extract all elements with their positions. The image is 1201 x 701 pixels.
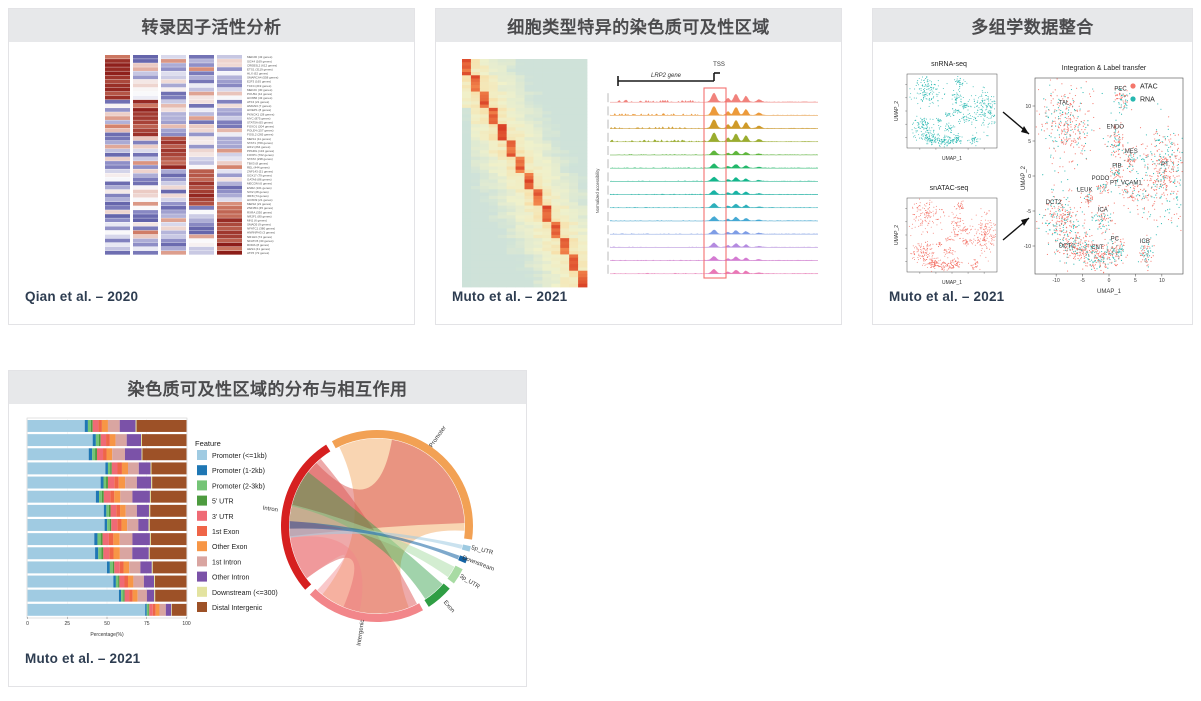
heatmap-cell [578,241,587,245]
heatmap-cell [551,114,560,118]
umap-point [1055,89,1056,90]
umap-point [984,212,985,213]
heatmap-cell [525,166,534,170]
umap-point [1130,161,1131,162]
umap-point [926,264,927,265]
umap-point [1066,142,1067,143]
card-multiomics-integration[interactable]: 多组学数据整合 snRNA-seq UMAP_1 UMAP_2 snATAC-s… [872,8,1193,325]
heatmap-cell [161,133,186,137]
heatmap-cell [217,202,242,206]
heatmap-cell [498,140,507,144]
umap-point [963,107,964,108]
umap-point [1145,258,1146,259]
umap-point [1084,240,1085,241]
umap-point [1111,152,1112,153]
umap-point [942,209,943,210]
umap-point [1055,228,1056,229]
heatmap-cell [569,212,578,216]
umap-point [1147,264,1148,265]
umap-point [952,127,953,128]
umap-point [1124,189,1125,190]
umap-point [1066,210,1067,211]
umap-point [1160,142,1161,143]
umap-point [1050,136,1051,137]
umap-point [935,264,936,265]
heatmap-cell [498,163,507,167]
heatmap-cell [525,222,534,226]
umap-point [990,220,991,221]
heatmap-cell [542,274,551,278]
umap-point [1137,173,1138,174]
heatmap-cell [489,186,498,190]
umap-point [1061,181,1062,182]
heatmap-cell [569,62,578,66]
umap-point [941,139,942,140]
heatmap-cell [525,235,534,239]
umap-point [1053,98,1054,99]
heatmap-cell [516,280,525,284]
umap-point [934,264,935,265]
umap-point [992,101,993,102]
heatmap-cell [551,134,560,138]
heatmap-cell [569,241,578,245]
heatmap-cell [569,137,578,141]
umap-point [1156,165,1157,166]
umap-point [933,252,934,253]
umap-point [939,243,940,244]
heatmap-cell [489,66,498,70]
umap-point [967,228,968,229]
umap-point [1095,220,1096,221]
heatmap-cell [471,271,480,275]
heatmap-cell [471,121,480,125]
umap-point [1128,208,1129,209]
umap-point [958,261,959,262]
umap-point [930,249,931,250]
umap-point [1058,208,1059,209]
umap-point [1071,161,1072,162]
umap-point [945,144,946,145]
heatmap-cell [560,72,569,76]
heatmap-cell [480,261,489,265]
umap-point [1164,175,1165,176]
umap-point [964,122,965,123]
umap-point [924,214,925,215]
umap-point [956,93,957,94]
umap-point [1114,177,1115,178]
heatmap-cell [569,254,578,258]
umap-point [931,263,932,264]
umap-point [1174,181,1175,182]
umap-point [1062,98,1063,99]
umap-point [961,118,962,119]
umap-point [959,225,960,226]
umap-point [980,109,981,110]
heatmap-cell [533,261,542,265]
umap-point [1151,144,1152,145]
umap-point [1170,143,1171,144]
umap-point [949,265,950,266]
heatmap-cell [560,62,569,66]
umap-point [1062,207,1063,208]
umap-point [922,212,923,213]
umap-point [1106,252,1107,253]
heatmap-cell [480,219,489,223]
heatmap-cell [560,264,569,268]
heatmap-cell [569,251,578,255]
heatmap-cell [560,261,569,265]
umap-point [960,220,961,221]
umap-point [974,107,975,108]
umap-point [1053,189,1054,190]
umap-point [931,271,932,272]
umap-point [958,89,959,90]
umap-point [928,138,929,139]
umap-point [982,114,983,115]
heatmap-cell [498,193,507,197]
umap-point [1061,130,1062,131]
umap-point [1164,136,1165,137]
heatmap-cell [489,284,498,288]
umap-point [1142,198,1143,199]
umap-point [912,208,913,209]
umap-point [1114,140,1115,141]
umap-point [1154,138,1155,139]
umap-point [931,212,932,213]
heatmap-cell [516,212,525,216]
umap-point [1121,95,1122,96]
heatmap-cell [498,228,507,232]
umap-point [1085,235,1086,236]
heatmap-cell [480,277,489,281]
umap-point [1125,191,1126,192]
umap-point [943,137,944,138]
umap-point [1130,171,1131,172]
umap-point [1166,159,1167,160]
umap-point [1119,142,1120,143]
heatmap-cell [161,145,186,149]
heatmap-cell [480,79,489,83]
umap-point [930,265,931,266]
umap-point [948,237,949,238]
umap-point [1106,229,1107,230]
heatmap-cell [507,186,516,190]
umap-point [1067,129,1068,130]
umap-point [1099,252,1100,253]
umap-point [1107,258,1108,259]
umap-snrna-frame [907,74,997,148]
heatmap-cell [480,274,489,278]
heatmap-cell [480,95,489,99]
heatmap-cell [542,248,551,252]
umap-point [1114,203,1115,204]
heatmap-cell [560,75,569,79]
umap-point [1104,263,1105,264]
heatmap-cell [480,150,489,154]
umap-point [1107,268,1108,269]
umap-point [927,246,928,247]
umap-point [1173,162,1174,163]
heatmap-cell [489,82,498,86]
heatmap-cell [133,133,158,137]
umap-point [1154,163,1155,164]
card-tf-activity[interactable]: 转录因子活性分析 MEF2D (43 genes)SOX4 (169 genes… [8,8,415,325]
umap-point [1084,256,1085,257]
heatmap-cell [551,202,560,206]
heatmap-cell [507,137,516,141]
heatmap-cell [560,222,569,226]
umap-point [1077,110,1078,111]
umap-point [963,238,964,239]
umap-point [923,121,924,122]
umap-point [1173,169,1174,170]
umap-point [1097,189,1098,190]
umap-point [1076,253,1077,254]
umap-point [1063,225,1064,226]
umap-point [1065,214,1066,215]
umap-point [1168,129,1169,130]
umap-point [986,243,987,244]
umap-point [1170,146,1171,147]
umap-point [1063,95,1064,96]
heatmap-cell [542,225,551,229]
umap-point [933,142,934,143]
umap-point [1172,166,1173,167]
heatmap-cell [462,267,471,271]
umap-point [1112,251,1113,252]
umap-point [980,114,981,115]
umap-point [1123,238,1124,239]
umap-point [923,256,924,257]
heatmap-cell [525,163,534,167]
umap-point [924,217,925,218]
umap-point [984,100,985,101]
card-body-tf-activity: MEF2D (43 genes)SOX4 (169 genes)CREB3L2 … [9,42,414,325]
cluster-label-endo: ENDO [1107,124,1125,130]
umap-point [983,229,984,230]
umap-point [1050,213,1051,214]
umap-point [989,227,990,228]
umap-point [922,86,923,87]
heatmap-cell [217,108,242,112]
heatmap-cell [489,144,498,148]
umap-point [958,234,959,235]
heatmap-cell [498,147,507,151]
heatmap-cell [161,92,186,96]
umap-point [1070,85,1071,86]
umap-point [939,138,940,139]
umap-point [924,208,925,209]
umap-point [933,137,934,138]
heatmap-cell [217,239,242,243]
heatmap-cell [516,206,525,210]
heatmap-cell [498,114,507,118]
heatmap-cell [489,202,498,206]
umap-point [1080,153,1081,154]
heatmap-cell [507,199,516,203]
heatmap-cell [471,264,480,268]
heatmap-cell [551,85,560,89]
umap-point [1159,188,1160,189]
umap-point [955,217,956,218]
cluster-label-tal: TAL [1059,101,1070,107]
heatmap-cell [498,95,507,99]
heatmap-cell [551,264,560,268]
umap-point [1112,147,1113,148]
umap-point [913,136,914,137]
heatmap-cell [578,277,587,281]
heatmap-cell [533,235,542,239]
heatmap-cell [498,124,507,128]
umap-point [1111,113,1112,114]
umap-point [958,231,959,232]
heatmap-cell [161,169,186,173]
umap-point [957,112,958,113]
umap-point [1098,253,1099,254]
umap-point [957,222,958,223]
heatmap-cell [189,231,214,235]
umap-point [1114,261,1115,262]
heatmap-cell [533,111,542,115]
umap-point [1127,95,1128,96]
umap-point [914,247,915,248]
heatmap-cell [551,248,560,252]
umap-point [1072,98,1073,99]
umap-point [943,141,944,142]
umap-point [1099,205,1100,206]
umap-point [1146,175,1147,176]
umap-point [929,200,930,201]
umap-point [937,138,938,139]
umap-point [1155,181,1156,182]
umap-point [1123,251,1124,252]
umap-point [921,225,922,226]
umap-point [988,98,989,99]
heatmap-cell [578,228,587,232]
umap-point [1123,108,1124,109]
umap-point [932,255,933,256]
umap-point [1071,237,1072,238]
umap-point [1069,239,1070,240]
heatmap-cell [462,209,471,213]
umap-point [1057,221,1058,222]
umap-point [956,223,957,224]
umap-point [1095,260,1096,261]
umap-point [1059,260,1060,261]
umap-point [1059,123,1060,124]
heatmap-cell [560,127,569,131]
umap-point [987,92,988,93]
umap-point [1060,228,1061,229]
umap-point [1083,262,1084,263]
umap-point [1050,155,1051,156]
umap-point [960,141,961,142]
umap-point [947,83,948,84]
umap-point [917,211,918,212]
umap-point [1109,257,1110,258]
umap-point [1151,159,1152,160]
umap-point [1077,111,1078,112]
umap-point [1133,169,1134,170]
umap-point [927,217,928,218]
heatmap-cell [471,173,480,177]
heatmap-cell [217,71,242,75]
umap-point [953,141,954,142]
umap-point [935,213,936,214]
umap-point [917,93,918,94]
heatmap-cell [217,63,242,67]
heatmap-cell [507,163,516,167]
heatmap-cell [569,284,578,288]
heatmap-cell [471,193,480,197]
heatmap-cell [105,128,130,132]
heatmap-cell [462,163,471,167]
umap-point [1131,170,1132,171]
umap-point [1093,130,1094,131]
umap-point [984,226,985,227]
heatmap-cell [462,193,471,197]
heatmap-cell [471,180,480,184]
umap-point [959,119,960,120]
heatmap-cell [569,59,578,63]
umap-point [917,83,918,84]
x-tick-label: -10 [1053,278,1060,284]
umap-point [1110,171,1111,172]
heatmap-cell [551,245,560,249]
umap-point [921,79,922,80]
umap-point [1114,133,1115,134]
umap-point [920,223,921,224]
heatmap-cell [462,215,471,219]
heatmap-cell [161,198,186,202]
umap-point [937,258,938,259]
umap-point [911,253,912,254]
umap-point [925,122,926,123]
heatmap-cell [462,101,471,105]
heatmap-cell [217,104,242,108]
heatmap-cell [471,166,480,170]
umap-point [981,220,982,221]
umap-point [952,239,953,240]
heatmap-cell [542,232,551,236]
umap-point [1084,245,1085,246]
umap-point [925,253,926,254]
umap-point [1074,240,1075,241]
heatmap-cell [551,121,560,125]
umap-point [1047,123,1048,124]
umap-point [1122,138,1123,139]
heatmap-cell [578,238,587,242]
heatmap-cell [578,271,587,275]
heatmap-cell [489,251,498,255]
umap-point [913,257,914,258]
umap-point [1103,224,1104,225]
card-celltype-chromatin[interactable]: 细胞类型特异的染色质可及性区域 LRP2 gene TSS Normalized… [435,8,842,325]
umap-point [1142,253,1143,254]
umap-point [1101,259,1102,260]
heatmap-cell [578,75,587,79]
heatmap-cell [489,170,498,174]
umap-point [1174,179,1175,180]
umap-point [960,78,961,79]
umap-point [1079,124,1080,125]
umap-point [1056,224,1057,225]
heatmap-cell [507,88,516,92]
heatmap-cell [578,261,587,265]
umap-point [1147,248,1148,249]
umap-point [958,218,959,219]
umap-point [1068,190,1069,191]
